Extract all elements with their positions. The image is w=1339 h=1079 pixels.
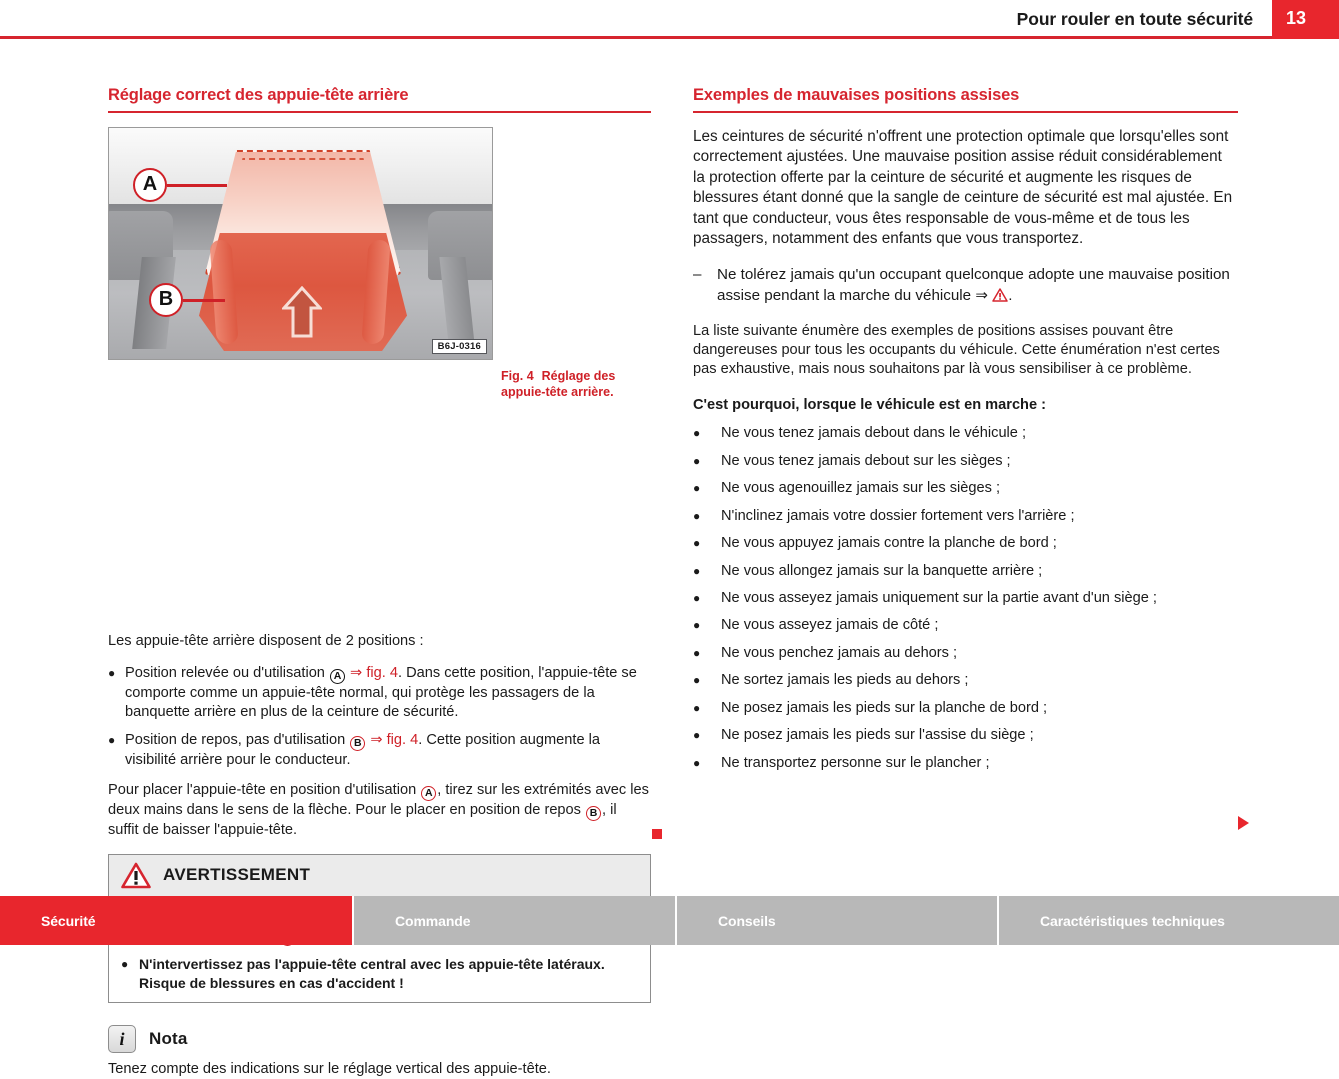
figure-caption-label: Fig. 4 xyxy=(501,369,534,383)
list-item-text: Ne vous penchez jamais au dehors ; xyxy=(721,644,957,663)
list-item-text: Ne sortez jamais les pieds au dehors ; xyxy=(721,671,968,690)
list-item-text: Ne vous asseyez jamais uniquement sur la… xyxy=(721,589,1157,608)
callout-a-leader xyxy=(167,184,227,187)
footer-tab-securite[interactable]: Sécurité xyxy=(0,896,352,945)
warning-title: AVERTISSEMENT xyxy=(163,865,310,885)
list-item-text: Ne posez jamais les pieds sur l'assise d… xyxy=(721,726,1034,745)
list-item: ●Ne vous tenez jamais debout dans le véh… xyxy=(693,424,1238,443)
info-icon: i xyxy=(108,1025,136,1053)
header-divider xyxy=(0,36,1339,39)
bullet-marker: ● xyxy=(693,589,721,608)
figure-block: A B B6J-0316 Fig. 4Réglage des appuie-tê… xyxy=(108,127,493,360)
dash-item-text: Ne tolérez jamais qu'un occupant quelcon… xyxy=(717,265,1238,305)
right-section-divider xyxy=(693,111,1238,113)
figure-reference[interactable]: ⇒ fig. 4 xyxy=(350,665,398,681)
bullet-marker: ● xyxy=(693,507,721,526)
bullet-marker: ● xyxy=(693,479,721,498)
list-item: ●Ne vous tenez jamais debout sur les siè… xyxy=(693,452,1238,471)
bullet-text: Position relevée ou d'utilisation A ⇒ fi… xyxy=(125,664,651,722)
bullet-text: Position de repos, pas d'utilisation B ⇒… xyxy=(125,731,651,770)
list-item-text: Ne vous tenez jamais debout sur les sièg… xyxy=(721,452,1011,471)
callout-b: B xyxy=(149,283,183,317)
list-item-text: Ne vous asseyez jamais de côté ; xyxy=(721,616,938,635)
list-item: ●Ne transportez personne sur le plancher… xyxy=(693,754,1238,773)
list-item-text: Ne vous appuyez jamais contre la planche… xyxy=(721,534,1057,553)
list-item: ●Ne vous agenouillez jamais sur les sièg… xyxy=(693,479,1238,498)
bullet-marker: ● xyxy=(108,664,125,722)
page-header: Pour rouler en toute sécurité 13 xyxy=(0,0,1339,40)
page-number-badge: 13 xyxy=(1272,0,1339,39)
bullet-text-pre: Position de repos, pas d'utilisation xyxy=(125,732,349,748)
callout-a: A xyxy=(133,168,167,202)
bullet-marker: ● xyxy=(693,754,721,773)
list-item-text: Ne transportez personne sur le plancher … xyxy=(721,754,990,773)
footer-tab-commande[interactable]: Commande xyxy=(352,896,675,945)
warning-triangle-icon xyxy=(992,288,1008,302)
list-item: ● Position de repos, pas d'utilisation B… xyxy=(108,731,651,770)
bullet-marker: ● xyxy=(693,671,721,690)
list-item: ●N'inclinez jamais votre dossier forteme… xyxy=(693,507,1238,526)
right-intro-paragraph: Les ceintures de sécurité n'offrent une … xyxy=(693,127,1238,249)
left-paragraph: Pour placer l'appuie-tête en position d'… xyxy=(108,781,651,840)
note-title: Nota xyxy=(149,1029,188,1049)
list-item-text: Ne vous allongez jamais sur la banquette… xyxy=(721,562,1042,581)
inline-circle-b: B xyxy=(586,806,601,821)
list-item: ●Ne vous allongez jamais sur la banquett… xyxy=(693,562,1238,581)
bullet-marker: ● xyxy=(108,731,125,770)
footer-tab-caracteristiques[interactable]: Caractéristiques techniques xyxy=(997,896,1339,945)
list-item-text: Ne vous tenez jamais debout dans le véhi… xyxy=(721,424,1026,443)
page-title: Pour rouler en toute sécurité xyxy=(1017,9,1253,30)
page-number: 13 xyxy=(1286,8,1306,29)
figure-reference[interactable]: ⇒ fig. 4 xyxy=(370,732,418,748)
list-item: ●Ne vous penchez jamais au dehors ; xyxy=(693,644,1238,663)
list-item: ●Ne vous asseyez jamais de côté ; xyxy=(693,616,1238,635)
note-header: i Nota xyxy=(108,1025,651,1053)
list-item: ●Ne vous appuyez jamais contre la planch… xyxy=(693,534,1238,553)
list-item-text: N'inclinez jamais votre dossier fortemen… xyxy=(721,507,1075,526)
up-arrow-icon xyxy=(282,286,322,338)
dash-marker: – xyxy=(693,265,717,305)
footer-tab-conseils[interactable]: Conseils xyxy=(675,896,997,945)
left-intro-text: Les appuie-tête arrière disposent de 2 p… xyxy=(108,632,651,651)
figure-caption: Fig. 4Réglage des appuie-tête arrière. xyxy=(501,369,661,400)
footer-tabs: Sécurité Commande Conseils Caractéristiq… xyxy=(0,896,1339,945)
warning-item-text: N'intervertissez pas l'appuie-tête centr… xyxy=(139,955,638,992)
bullet-marker: ● xyxy=(693,452,721,471)
bullet-marker: ● xyxy=(693,562,721,581)
inline-circle-a: A xyxy=(330,669,345,684)
bullet-marker: ● xyxy=(693,699,721,718)
bullet-text-pre: Position relevée ou d'utilisation xyxy=(125,665,329,681)
left-section-title: Réglage correct des appuie-tête arrière xyxy=(108,86,651,111)
bullet-marker: ● xyxy=(693,616,721,635)
warning-header: AVERTISSEMENT xyxy=(109,855,650,898)
list-item: ●Ne vous asseyez jamais uniquement sur l… xyxy=(693,589,1238,608)
bullet-marker: ● xyxy=(121,955,139,992)
bold-lead-text: C'est pourquoi, lorsque le véhicule est … xyxy=(693,397,1238,413)
dash-list-item: – Ne tolérez jamais qu'un occupant quelc… xyxy=(693,265,1238,305)
paragraph-part-1: Pour placer l'appuie-tête en position d'… xyxy=(108,782,420,798)
list-item: ●Ne sortez jamais les pieds au dehors ; xyxy=(693,671,1238,690)
warning-triangle-icon xyxy=(121,862,151,889)
warning-item: ● N'intervertissez pas l'appuie-tête cen… xyxy=(121,955,638,992)
inline-circle-b: B xyxy=(350,736,365,751)
left-section-divider xyxy=(108,111,651,113)
list-item-text: Ne posez jamais les pieds sur la planche… xyxy=(721,699,1047,718)
bullet-marker: ● xyxy=(693,534,721,553)
right-column: Exemples de mauvaises positions assises … xyxy=(693,86,1238,781)
headrest-illustration: A B B6J-0316 xyxy=(108,127,493,360)
list-item-text: Ne vous agenouillez jamais sur les siège… xyxy=(721,479,1000,498)
warnings-list: ●Ne vous tenez jamais debout dans le véh… xyxy=(693,424,1238,773)
bullet-marker: ● xyxy=(693,726,721,745)
note-text: Tenez compte des indications sur le régl… xyxy=(108,1060,651,1079)
list-item: ● Position relevée ou d'utilisation A ⇒ … xyxy=(108,664,651,722)
figure-code: B6J-0316 xyxy=(432,339,487,354)
right-section-title: Exemples de mauvaises positions assises xyxy=(693,86,1238,111)
dash-item-label: Ne tolérez jamais qu'un occupant quelcon… xyxy=(717,266,1230,303)
bullet-marker: ● xyxy=(693,424,721,443)
right-second-paragraph: La liste suivante énumère des exemples d… xyxy=(693,322,1238,379)
bullet-marker: ● xyxy=(693,644,721,663)
continue-arrow-icon xyxy=(1238,816,1249,830)
list-item: ●Ne posez jamais les pieds sur l'assise … xyxy=(693,726,1238,745)
callout-b-leader xyxy=(183,299,225,302)
inline-circle-a: A xyxy=(421,786,436,801)
list-item: ●Ne posez jamais les pieds sur la planch… xyxy=(693,699,1238,718)
end-of-section-square xyxy=(652,829,662,839)
dash-item-suffix: . xyxy=(1008,287,1012,304)
